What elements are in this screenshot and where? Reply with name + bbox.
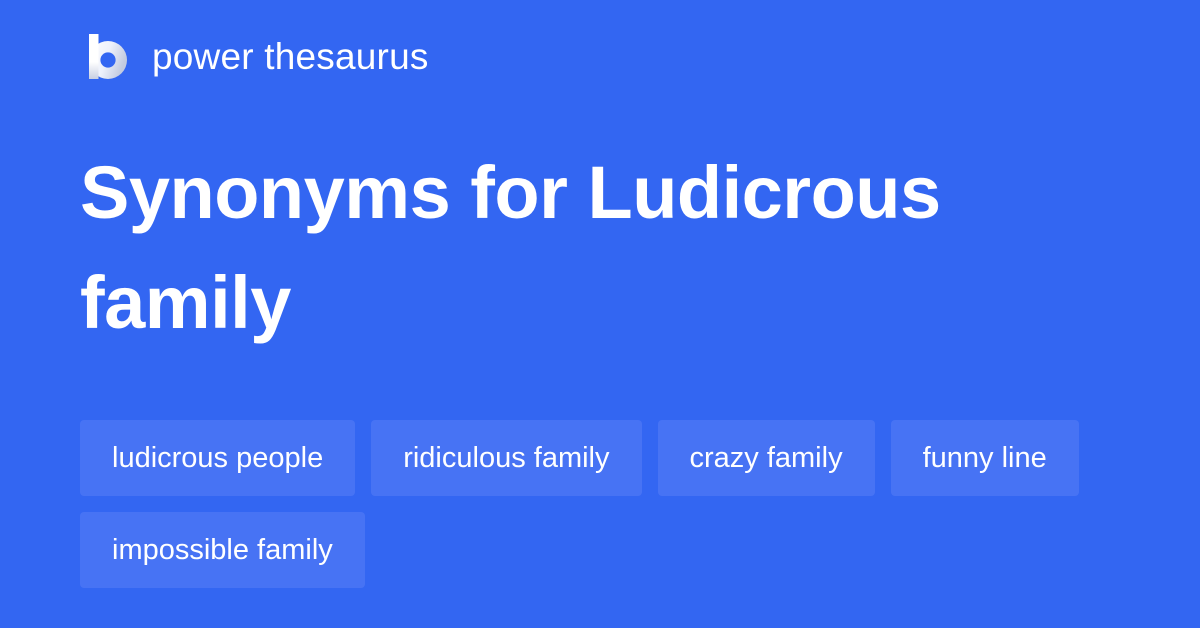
brand-logo[interactable]: power thesaurus <box>80 28 429 84</box>
power-thesaurus-b-logo-icon <box>80 30 132 82</box>
page-title-line-2: family <box>80 248 1120 358</box>
synonym-chip[interactable]: ridiculous family <box>371 420 641 496</box>
synonym-chip[interactable]: crazy family <box>658 420 875 496</box>
synonym-chip[interactable]: impossible family <box>80 512 365 588</box>
synonym-chip[interactable]: ludicrous people <box>80 420 355 496</box>
page-title: Synonyms for Ludicrous family <box>80 138 1120 358</box>
page-title-line-1: Synonyms for Ludicrous <box>80 138 1120 248</box>
og-preview-card: power thesaurus Synonyms for Ludicrous f… <box>0 0 1200 628</box>
synonym-chip-list: ludicrous people ridiculous family crazy… <box>80 420 1120 588</box>
brand-name: power thesaurus <box>152 38 429 75</box>
synonym-chip[interactable]: funny line <box>891 420 1079 496</box>
